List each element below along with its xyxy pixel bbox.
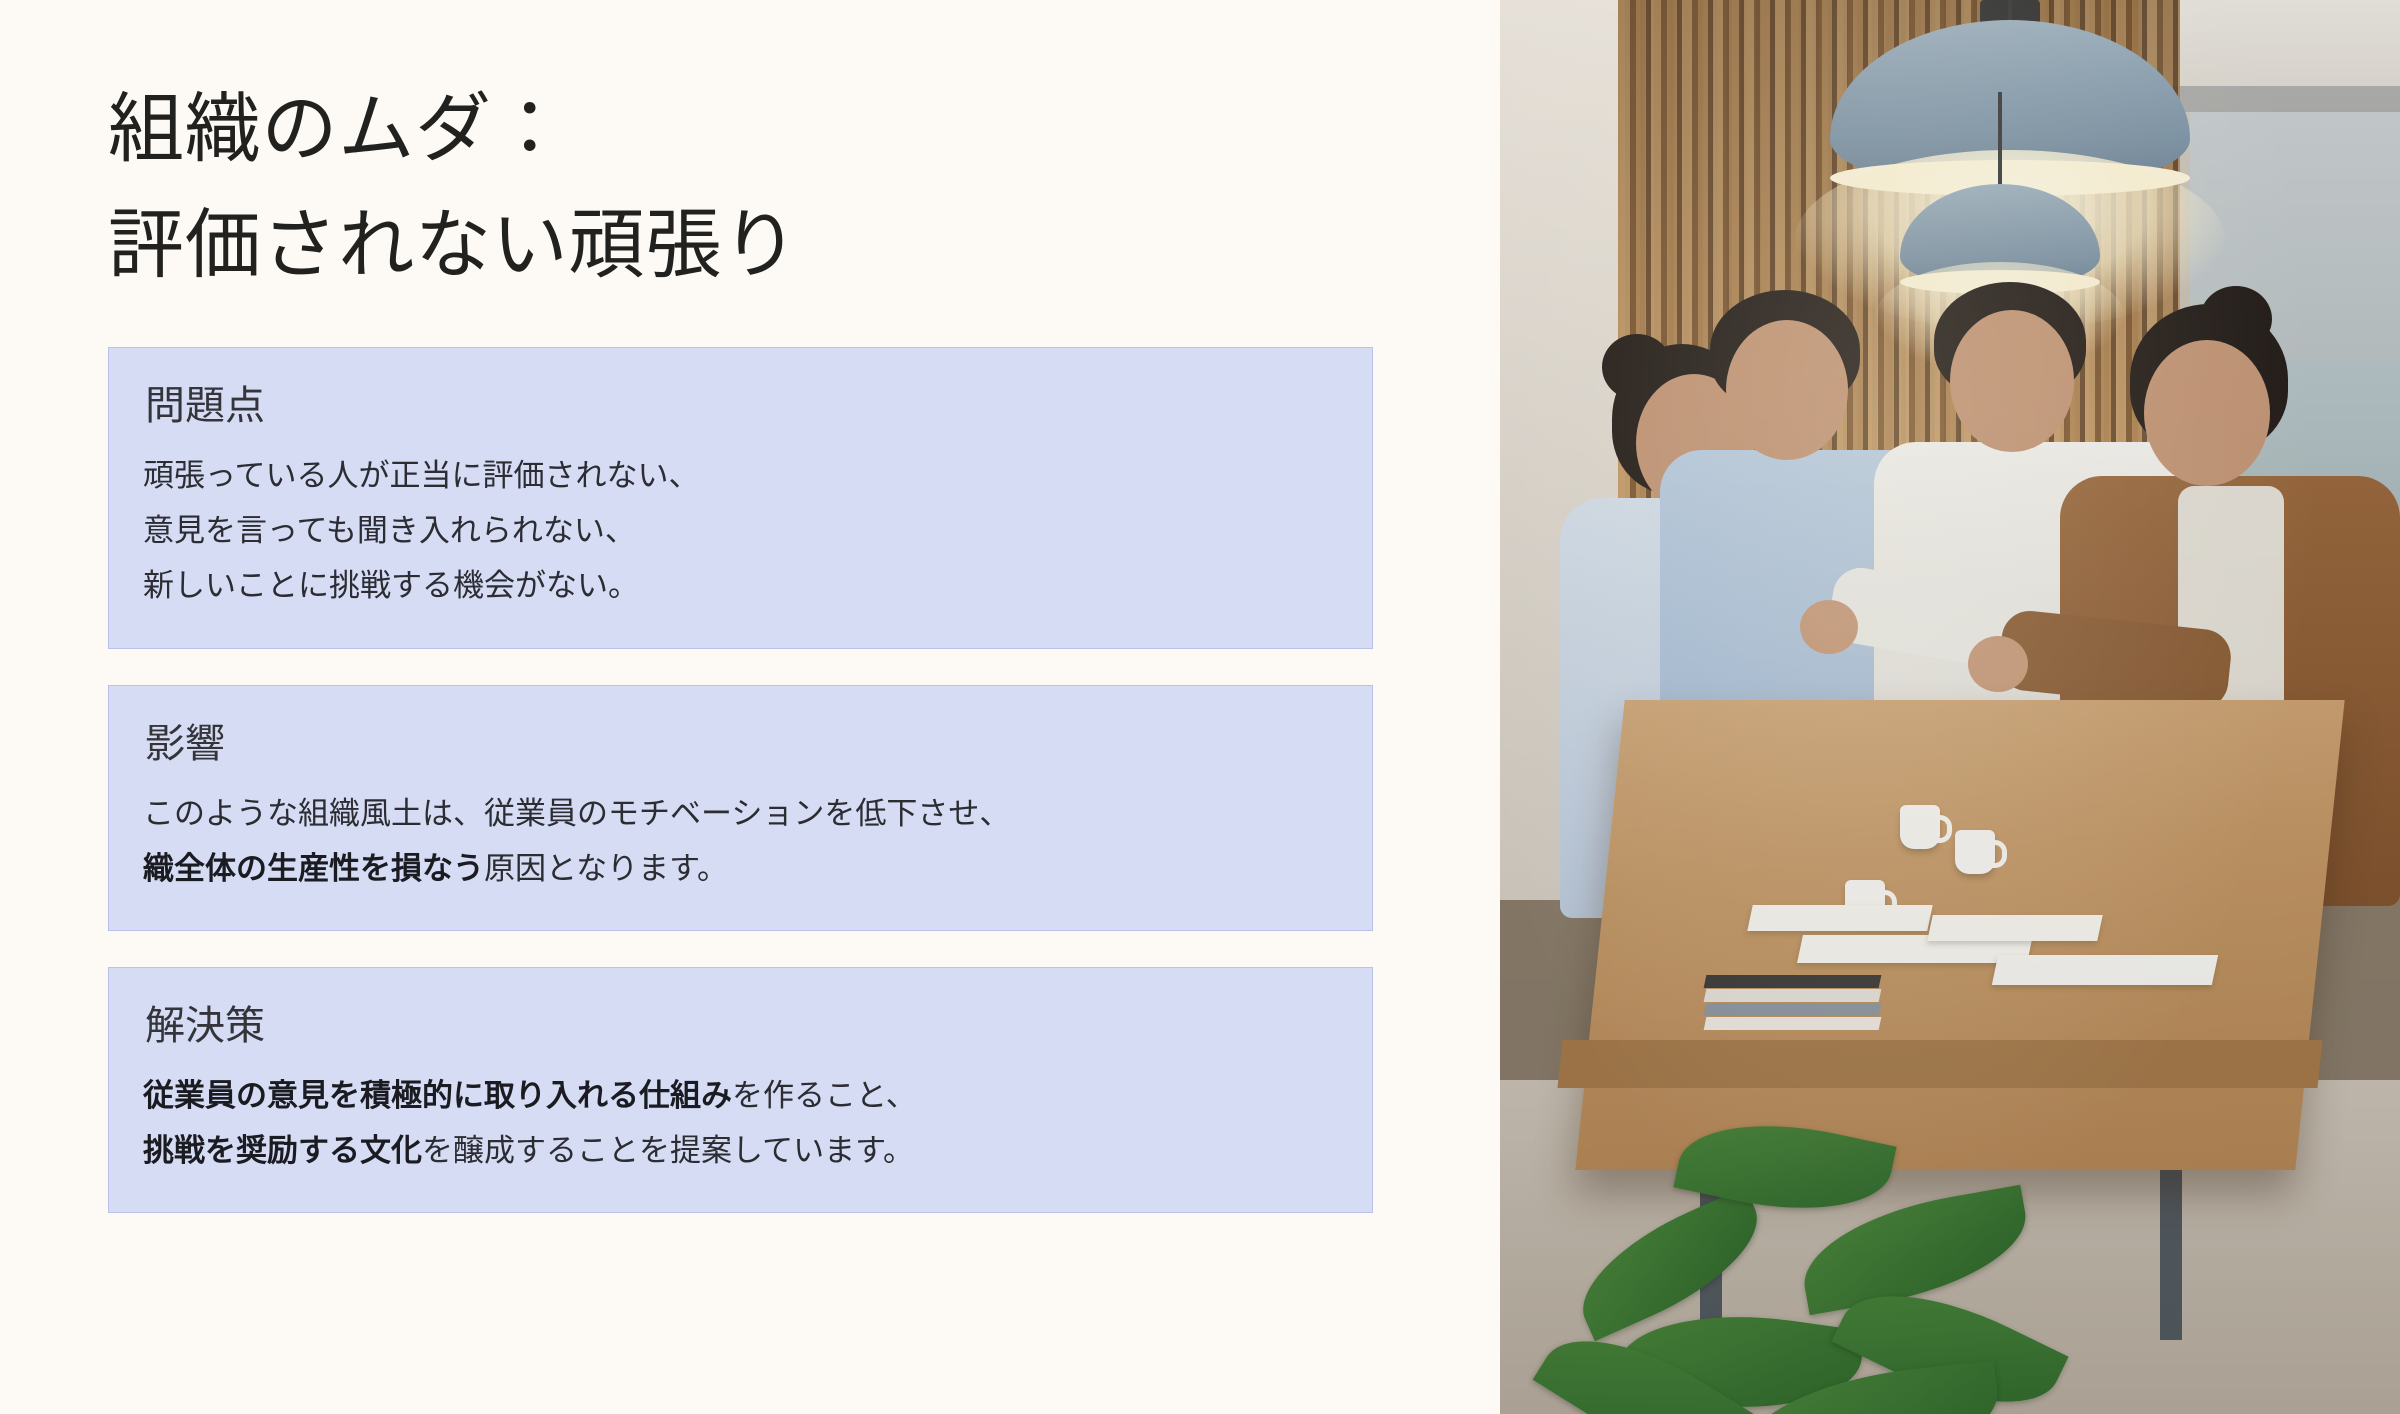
card-impact: 影響 このような組織風土は、従業員のモチベーションを低下させ、 織全体の生産性を…: [108, 685, 1373, 931]
plain-text: 新しいことに挑戦する機会がない。: [143, 568, 639, 603]
plain-text: このような組織風土は、従業員のモチベーションを低下させ、: [143, 796, 1010, 831]
plain-text: 原因となります。: [484, 851, 728, 886]
emphasis-text: 織全体の生産性を損なう: [143, 851, 484, 886]
emphasis-text: 従業員の意見を積極的に取り入れる仕組み: [143, 1078, 732, 1113]
title-line-2: 評価されない頑張り: [108, 188, 1500, 304]
photo-lighting-overlay: [1500, 0, 2400, 1414]
plain-text: 意見を言っても聞き入れられない、: [143, 513, 636, 548]
card-impact-line-2: 織全体の生産性を損なう原因となります。: [143, 841, 1338, 896]
card-issue-body: 頑張っている人が正当に評価されない、 意見を言っても聞き入れられない、 新しいこ…: [143, 448, 1338, 614]
slide: 組織のムダ： 評価されない頑張り 問題点 頑張っている人が正当に評価されない、 …: [0, 0, 2400, 1414]
card-issue-line-3: 新しいことに挑戦する機会がない。: [143, 558, 1338, 613]
card-issue: 問題点 頑張っている人が正当に評価されない、 意見を言っても聞き入れられない、 …: [108, 347, 1373, 649]
card-list: 問題点 頑張っている人が正当に評価されない、 意見を言っても聞き入れられない、 …: [108, 347, 1373, 1213]
photo-pane: [1500, 0, 2400, 1414]
card-issue-line-2: 意見を言っても聞き入れられない、: [143, 503, 1338, 558]
plain-text: を作ること、: [732, 1078, 917, 1113]
card-solution-body: 従業員の意見を積極的に取り入れる仕組みを作ること、 挑戦を奨励する文化を醸成する…: [143, 1068, 1338, 1178]
emphasis-text: 挑戦を奨励する文化: [143, 1133, 422, 1168]
card-impact-heading: 影響: [145, 716, 1338, 772]
card-solution-heading: 解決策: [145, 998, 1338, 1054]
card-impact-body: このような組織風土は、従業員のモチベーションを低下させ、 織全体の生産性を損なう…: [143, 786, 1338, 896]
title-line-1: 組織のムダ：: [108, 72, 1500, 188]
meeting-photo: [1500, 0, 2400, 1414]
card-impact-line-1: このような組織風土は、従業員のモチベーションを低下させ、: [143, 786, 1338, 841]
card-solution-line-2: 挑戦を奨励する文化を醸成することを提案しています。: [143, 1123, 1338, 1178]
page-title: 組織のムダ： 評価されない頑張り: [108, 72, 1500, 303]
card-solution: 解決策 従業員の意見を積極的に取り入れる仕組みを作ること、 挑戦を奨励する文化を…: [108, 967, 1373, 1213]
content-pane: 組織のムダ： 評価されない頑張り 問題点 頑張っている人が正当に評価されない、 …: [0, 0, 1500, 1414]
card-issue-line-1: 頑張っている人が正当に評価されない、: [143, 448, 1338, 503]
card-issue-heading: 問題点: [145, 378, 1338, 434]
card-solution-line-1: 従業員の意見を積極的に取り入れる仕組みを作ること、: [143, 1068, 1338, 1123]
plain-text: 頑張っている人が正当に評価されない、: [143, 458, 699, 493]
plain-text: を醸成することを提案しています。: [422, 1133, 914, 1168]
